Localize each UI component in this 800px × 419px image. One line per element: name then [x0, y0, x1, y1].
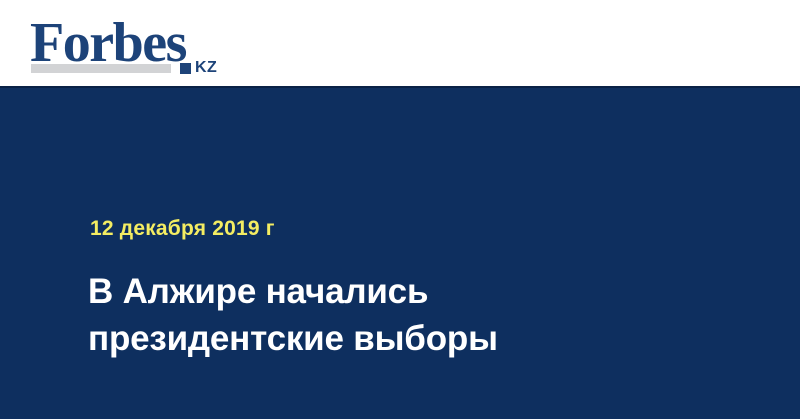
- forbes-wordmark: Forbes: [30, 16, 186, 70]
- forbes-kz-logo[interactable]: Forbes KZ: [30, 16, 225, 74]
- site-header: Forbes KZ: [0, 0, 800, 86]
- logo-kz-suffix: KZ: [195, 60, 217, 76]
- logo-underline-bar: [31, 64, 171, 73]
- blue-square-icon: [180, 63, 191, 74]
- article-date: 12 декабря 2019 г: [90, 216, 275, 242]
- article-hero: 12 декабря 2019 г В Алжире начались през…: [0, 88, 800, 419]
- article-banner-page: Forbes KZ 12 декабря 2019 г В Алжире нач…: [0, 0, 800, 419]
- article-title: В Алжире начались президентские выборы: [88, 268, 558, 362]
